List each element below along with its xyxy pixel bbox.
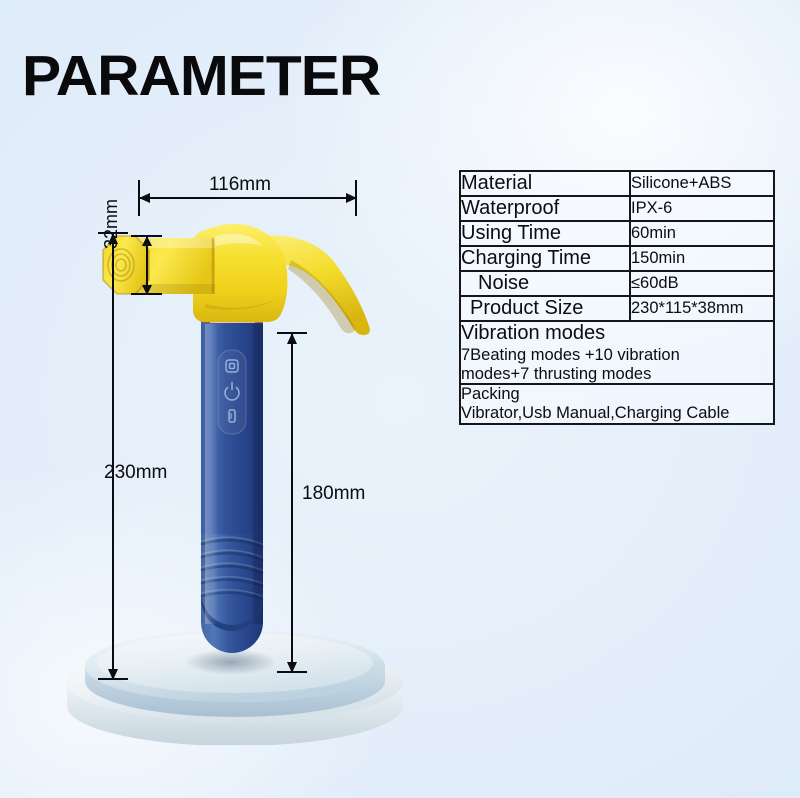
spec-cell-packing: Packing Vibrator,Usb Manual,Charging Cab…	[460, 384, 774, 424]
spec-value-noise: ≤60dB	[630, 271, 774, 296]
dimension-arrow-width-right	[346, 193, 357, 203]
spec-label-product-size: Product Size	[460, 296, 630, 321]
table-row: Charging Time 150min	[460, 246, 774, 271]
table-row: Packing Vibrator,Usb Manual,Charging Cab…	[460, 384, 774, 424]
spec-value-packing: Vibrator,Usb Manual,Charging Cable	[461, 404, 773, 423]
dimension-arrow-handle-top	[287, 333, 297, 344]
page-title: PARAMETER	[22, 48, 380, 105]
spec-value-charging-time: 150min	[630, 246, 774, 271]
dimension-arrow-handle-bottom	[287, 662, 297, 673]
spec-value-waterproof: IPX-6	[630, 196, 774, 221]
spec-label-using-time: Using Time	[460, 221, 630, 246]
table-row: Vibration modes 7Beating modes +10 vibra…	[460, 321, 774, 384]
spec-label-material: Material	[460, 171, 630, 196]
dimension-arrow-total-bottom	[108, 669, 118, 680]
product-parameter-page: PARAMETER	[0, 0, 800, 798]
dimension-label-handle-length: 180mm	[302, 483, 365, 505]
spec-label-noise: Noise	[460, 271, 630, 296]
spec-label-vibration-modes: Vibration modes	[461, 322, 773, 345]
table-row: Material Silicone+ABS	[460, 171, 774, 196]
spec-cell-vibration-modes: Vibration modes 7Beating modes +10 vibra…	[460, 321, 774, 384]
dimension-arrow-head-bottom	[142, 285, 152, 295]
spec-value-product-size: 230*115*38mm	[630, 296, 774, 321]
spec-label-packing: Packing	[461, 385, 773, 404]
control-panel[interactable]	[218, 350, 246, 434]
specification-table: Material Silicone+ABS Waterproof IPX-6 U…	[459, 170, 775, 425]
table-row: Noise ≤60dB	[460, 271, 774, 296]
spec-value-material: Silicone+ABS	[630, 171, 774, 196]
dimension-line-total-length	[112, 232, 114, 680]
spec-value-using-time: 60min	[630, 221, 774, 246]
product-handle	[201, 322, 263, 653]
dimension-line-width	[138, 197, 357, 199]
dimension-label-width: 116mm	[209, 174, 271, 196]
spec-value-vibration-modes: 7Beating modes +10 vibration modes+7 thr…	[461, 346, 773, 384]
spec-label-waterproof: Waterproof	[460, 196, 630, 221]
dimension-arrow-head-top	[142, 236, 152, 246]
dimension-arrow-total-top	[108, 233, 118, 244]
dimension-line-handle-length	[291, 332, 293, 673]
spec-label-charging-time: Charging Time	[460, 246, 630, 271]
table-row: Product Size 230*115*38mm	[460, 296, 774, 321]
table-row: Waterproof IPX-6	[460, 196, 774, 221]
dimension-arrow-width-left	[139, 193, 150, 203]
table-row: Using Time 60min	[460, 221, 774, 246]
